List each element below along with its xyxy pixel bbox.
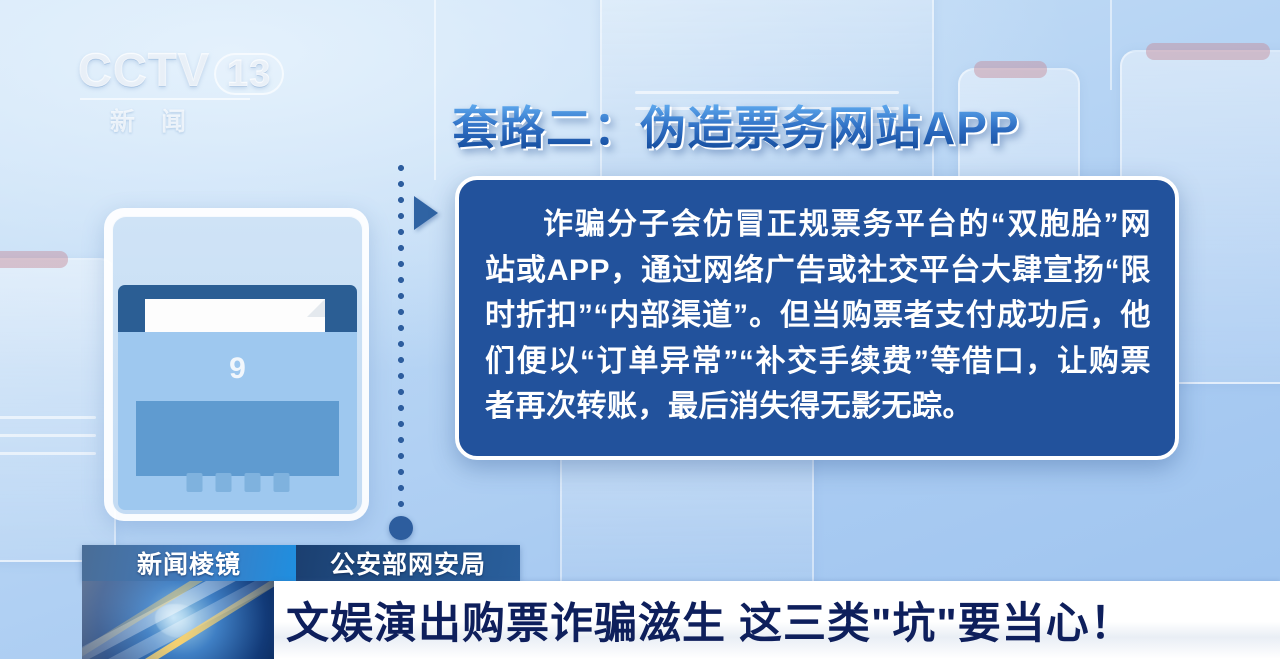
ghost-card-header-bar — [974, 61, 1047, 78]
headline-strip: 文娱演出购票诈骗滋生 这三类"坑"要当心！ — [274, 581, 1280, 659]
logo-subtitle: 新闻 — [78, 102, 288, 138]
broadcast-frame: CCTV13 新闻 9 套路二：伪造票务网站APP — [0, 0, 1280, 659]
folder-tab-marker — [186, 473, 202, 492]
background-ghost-card — [0, 258, 116, 562]
lower-third-banner: 新闻棱镜 公安部网安局 文娱演出购票诈骗滋生 这三类"坑"要当心！ — [0, 545, 1280, 659]
content-card-body: 诈骗分子会仿冒正规票务平台的“双胞胎”网站或APP，通过网络广告或社交平台大肆宣… — [485, 202, 1151, 430]
ghost-card-line — [0, 416, 96, 419]
banner-label-group: 新闻棱镜 公安部网安局 — [82, 545, 520, 581]
globe-graphic — [82, 581, 274, 659]
ghost-card-line — [635, 91, 899, 94]
cctv13-logo: CCTV13 新闻 — [78, 46, 288, 138]
folder-front-icon: 9 — [118, 332, 357, 510]
logo-channel-number: 13 — [214, 53, 284, 95]
background-vertical-line — [1110, 0, 1112, 90]
dotted-connector-line — [394, 160, 408, 520]
pointer-arrow-icon — [414, 196, 438, 230]
content-card: 诈骗分子会仿冒正规票务平台的“双胞胎”网站或APP，通过网络广告或社交平台大肆宣… — [455, 176, 1179, 460]
logo-text: CCTV — [78, 43, 210, 96]
program-label: 新闻棱镜 — [82, 545, 296, 581]
folder-tab-marker — [215, 473, 231, 492]
logo-wordmark: CCTV13 — [78, 46, 288, 95]
folder-tab-markers — [186, 473, 289, 492]
folder-illustration: 9 — [104, 208, 369, 521]
slide-title: 套路二：伪造票务网站APP — [452, 104, 1020, 152]
connector-end-dot — [389, 516, 413, 540]
ghost-card-header-bar — [0, 251, 68, 268]
background-ghost-panel — [600, 0, 934, 194]
ghost-card-line — [0, 452, 96, 455]
folder-pocket-icon — [136, 401, 339, 476]
globe-sheen — [82, 581, 274, 659]
folder-tab-marker — [273, 473, 289, 492]
logo-divider — [80, 98, 250, 100]
source-label: 公安部网安局 — [296, 545, 520, 581]
ghost-card-line — [0, 434, 96, 437]
folder-badge-number: 9 — [229, 354, 246, 384]
folder-tab-marker — [244, 473, 260, 492]
headline-text: 文娱演出购票诈骗滋生 这三类"坑"要当心！ — [274, 589, 1134, 651]
ghost-card-header-bar — [1146, 43, 1270, 60]
background-vertical-line — [434, 0, 436, 180]
folder-illustration-panel: 9 — [112, 216, 363, 515]
